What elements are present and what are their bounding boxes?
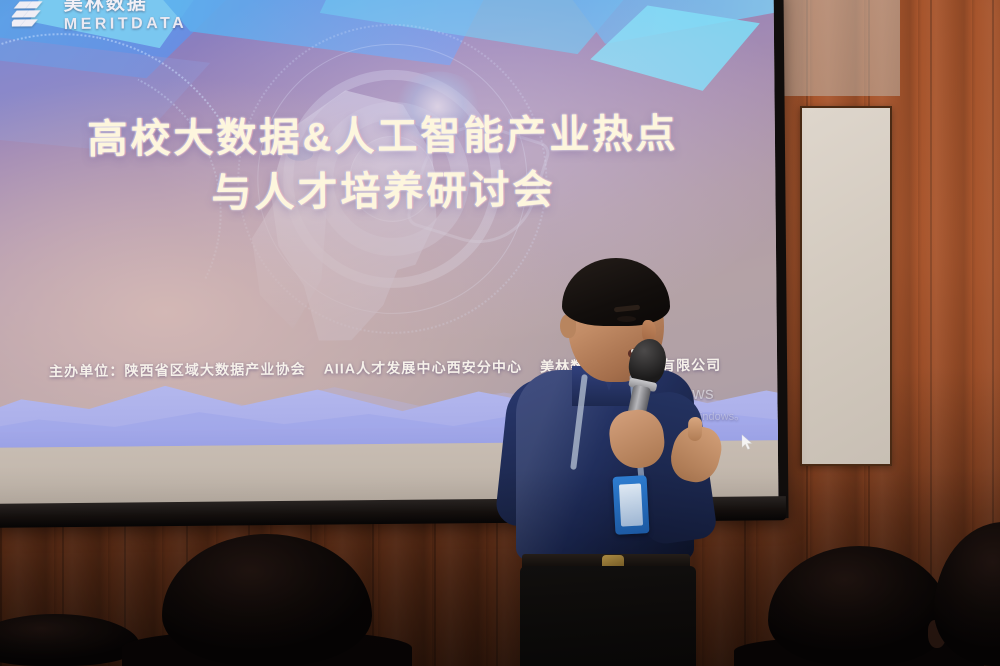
meritdata-logo-icon [12, 0, 54, 30]
speaker-eye [617, 316, 636, 322]
wall-side-panel [800, 106, 892, 466]
slide-title: 高校大数据&人工智能产业热点 与人才培养研讨会 [0, 106, 776, 224]
presentation-photo-scene: 美林数据 MERITDATA 高校大数据&人工智能产业热点 与人才培养研讨会 主… [0, 0, 1000, 666]
audience-head-shape [768, 546, 950, 666]
subtitle-org-1: 陕西省区域大数据产业协会 [124, 361, 305, 379]
audience-head [152, 526, 382, 666]
id-badge [613, 475, 650, 535]
audience-head [930, 516, 1000, 666]
brand-text: 美林数据 MERITDATA [64, 0, 188, 33]
audience-head-shape [934, 522, 1000, 666]
subtitle-label: 主办单位： [49, 362, 125, 379]
speaker [516, 262, 732, 666]
audience-head-shape [0, 614, 140, 666]
mouse-pointer-icon[interactable] [742, 434, 756, 450]
slide-title-line1: 高校大数据&人工智能产业热点 [87, 112, 678, 162]
subtitle-org-2: AIIA人才发展中心西安分中心 [324, 359, 523, 377]
slide-title-line2: 与人才培养研讨会 [17, 162, 749, 224]
wall-upper-panel [780, 0, 900, 96]
brand-name-cn: 美林数据 [64, 0, 188, 14]
speaker-hair [562, 258, 670, 326]
brand-logo: 美林数据 MERITDATA [12, 0, 188, 34]
brand-name-en: MERITDATA [64, 16, 187, 33]
audience-head-shape [162, 534, 372, 666]
speaker-trousers [520, 566, 696, 666]
